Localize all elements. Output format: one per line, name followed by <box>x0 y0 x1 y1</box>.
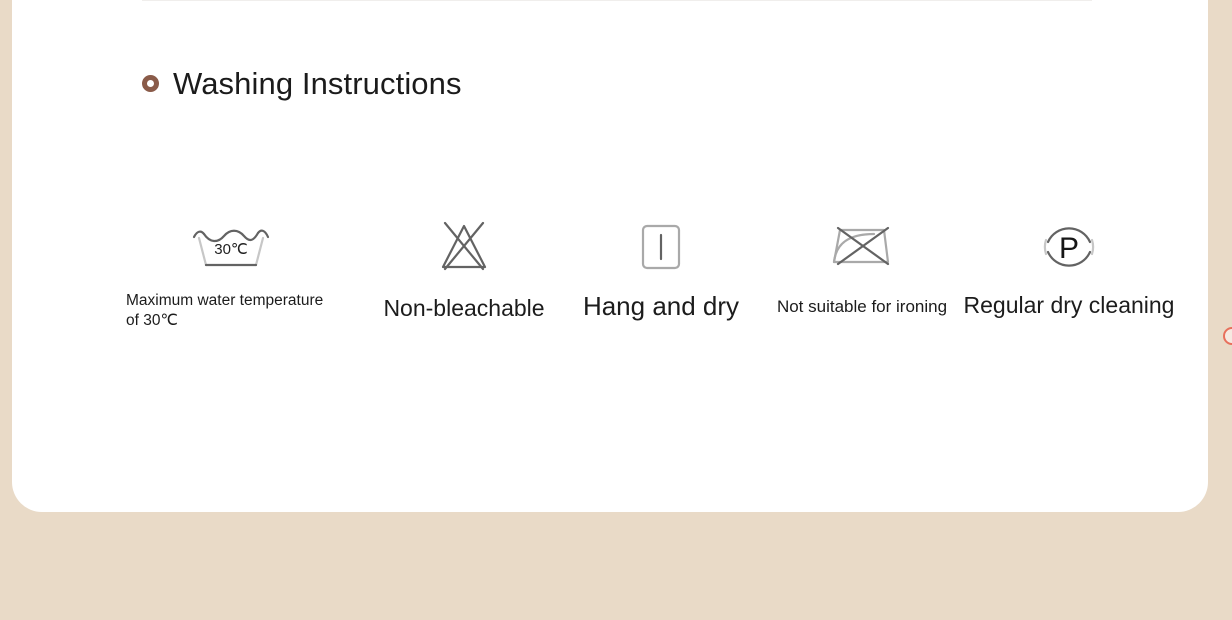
circle-p-dry-clean-icon: P <box>1038 216 1100 276</box>
care-label-dry: Hang and dry <box>583 290 739 323</box>
dry-clean-letter-text: P <box>1059 232 1079 265</box>
ring-bullet-icon <box>142 75 159 92</box>
crossed-iron-do-not-iron-icon <box>826 216 898 276</box>
care-label-iron: Not suitable for ironing <box>777 296 947 317</box>
washtub-30c-icon: 30℃ <box>188 216 274 276</box>
floating-action-button[interactable] <box>1223 327 1232 345</box>
care-icon-wrapper <box>561 215 761 277</box>
washing-instructions-card: Washing Instructions 30℃ <box>12 0 1208 512</box>
washtub-temperature-text: 30℃ <box>214 241 248 258</box>
care-icon-wrapper: 30℃ <box>126 215 356 277</box>
section-divider <box>142 0 1092 1</box>
care-label-wash-temperature: Maximum water temperature of 30℃ <box>126 291 331 330</box>
care-label-bleach: Non-bleachable <box>383 294 544 323</box>
care-item-wash-temperature: 30℃ Maximum water temperature of 30℃ <box>126 215 356 330</box>
page-title: Washing Instructions <box>173 68 462 99</box>
care-icon-wrapper <box>762 215 962 277</box>
care-item-dry: Hang and dry <box>561 215 761 323</box>
care-icon-wrapper <box>364 215 564 277</box>
crossed-triangle-no-bleach-icon <box>433 216 495 276</box>
care-label-dry-cleaning: Regular dry cleaning <box>964 291 1175 320</box>
section-heading: Washing Instructions <box>142 68 462 99</box>
care-item-dry-cleaning: P Regular dry cleaning <box>954 215 1184 320</box>
care-item-bleach: Non-bleachable <box>364 215 564 323</box>
care-symbol-row: 30℃ Maximum water temperature of 30℃ Non… <box>124 215 1184 355</box>
care-item-iron: Not suitable for ironing <box>762 215 962 317</box>
care-icon-wrapper: P <box>954 215 1184 277</box>
square-line-hang-dry-icon <box>631 216 691 276</box>
